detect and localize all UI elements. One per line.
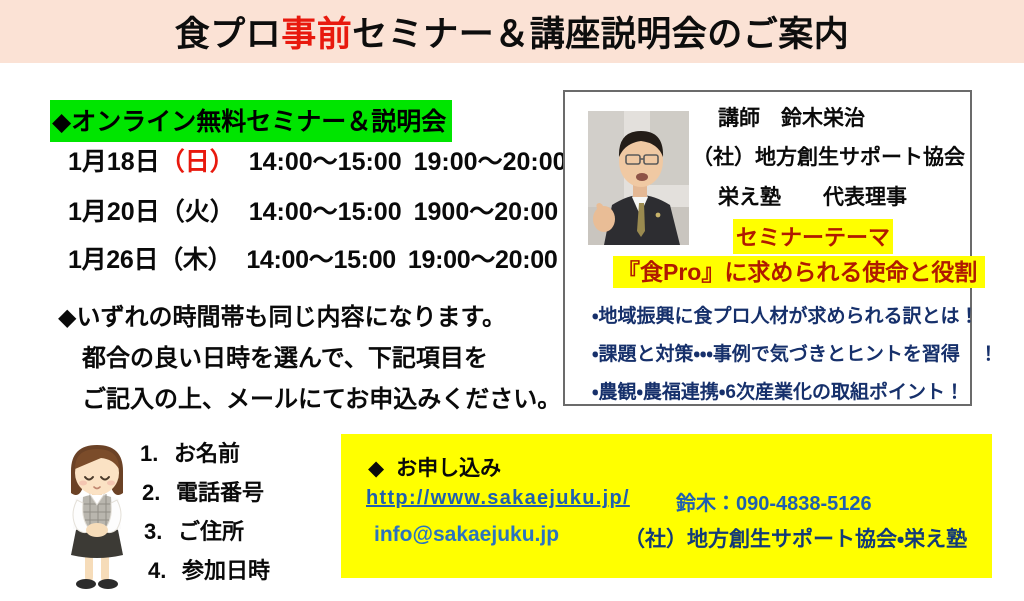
schedule-weekday: （木）	[158, 246, 232, 274]
speaker-name: 講師 鈴木栄治	[718, 102, 865, 132]
contact-organization: （社）地方創生サポート協会・栄え塾	[624, 523, 967, 553]
list-item: 1.お名前	[140, 437, 270, 476]
schedule-slot-1: 14:00〜15:00	[249, 198, 402, 226]
list-item-index: 4.	[148, 554, 182, 588]
schedule-slot-2: 1900〜20:00	[414, 198, 559, 226]
contact-heading: ◆お申し込み	[368, 452, 501, 482]
list-item-index: 1.	[140, 437, 174, 471]
seminar-point: ・課題と対策・・・事例で気づきとヒントを習得 ！	[592, 339, 998, 366]
seminar-theme-label: セミナーテーマ	[733, 219, 893, 254]
page-title-part2: セミナー＆講座説明会のご案内	[352, 6, 849, 57]
schedule-date: 1月18日	[68, 148, 160, 176]
list-item: 2.電話番号	[140, 476, 270, 515]
schedule-row: 1月26日（木）14:00〜15:0019:00〜20:00	[68, 240, 558, 276]
seminar-point: ・地域振興に食プロ人材が求められる訳とは！	[592, 301, 978, 328]
list-item: 4.参加日時	[140, 554, 270, 593]
speaker-role: 栄え塾 代表理事	[718, 181, 907, 211]
diamond-bullet-icon: ◆	[368, 457, 384, 480]
schedule-slot-1: 14:00〜15:00	[249, 148, 402, 176]
contact-email[interactable]: info@sakaejuku.jp	[374, 523, 559, 547]
speaker-organization: （社）地方創生サポート協会	[692, 141, 965, 171]
schedule-slot-2: 19:00〜20:00	[414, 148, 567, 176]
schedule-weekday: （火）	[160, 198, 235, 226]
schedule-date: 1月20日	[68, 198, 160, 226]
schedule-row: 1月18日（日）14:00〜15:0019:00〜20:00	[68, 142, 567, 178]
contact-heading-label: お申し込み	[396, 457, 501, 480]
schedule-row: 1月20日（火）14:00〜15:001900〜20:00	[68, 192, 558, 228]
note-line: ご記入の上、メールにてお申込みください。	[82, 379, 561, 414]
flyer-page: 食プロ事前セミナー＆講座説明会のご案内 ◆オンライン無料セミナー＆説明会 1月1…	[0, 0, 1024, 601]
list-item-label: ご住所	[178, 519, 244, 544]
website-link[interactable]: http://www.sakaejuku.jp/	[366, 487, 630, 510]
note-line: 都合の良い日時を選んで、下記項目を	[82, 338, 488, 373]
seminar-theme-text: 『食Pro』に求められる使命と役割	[617, 256, 977, 288]
list-item-label: 参加日時	[182, 558, 270, 583]
schedule-date: 1月26日	[68, 246, 158, 274]
page-title: 食プロ事前セミナー＆講座説明会のご案内	[0, 0, 1024, 63]
list-item-label: 電話番号	[176, 480, 264, 505]
speaker-photo	[588, 111, 689, 245]
page-title-part1: 食プロ	[175, 6, 282, 57]
seminar-point: ・農観・農福連携・6次産業化の取組ポイント！	[592, 377, 964, 404]
list-item-index: 3.	[144, 515, 178, 549]
bowing-woman-illustration	[45, 437, 149, 597]
schedule-slot-1: 14:00〜15:00	[246, 246, 396, 274]
schedule-slot-2: 19:00〜20:00	[408, 246, 558, 274]
apply-items-list: 1.お名前 2.電話番号 3.ご住所 4.参加日時	[140, 437, 270, 593]
online-seminar-heading: ◆オンライン無料セミナー＆説明会	[50, 100, 452, 142]
schedule-weekday: （日）	[160, 148, 235, 176]
list-item-index: 2.	[142, 476, 176, 510]
page-title-highlight: 事前	[281, 6, 352, 57]
note-line: ◆いずれの時間帯も同じ内容になります。	[58, 297, 506, 332]
list-item: 3.ご住所	[140, 515, 270, 554]
list-item-label: お名前	[174, 441, 240, 466]
contact-phone: 鈴木：090-4838-5126	[676, 487, 872, 516]
